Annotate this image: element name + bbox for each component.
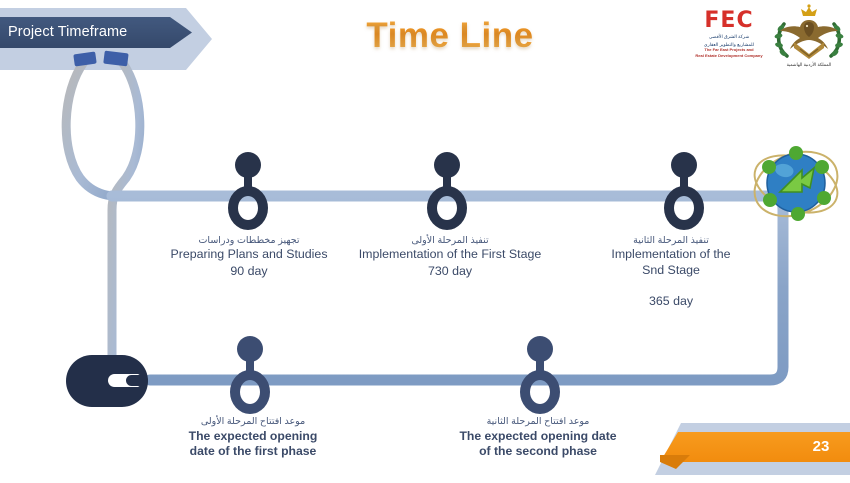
- milestone-label-1-duration: 90 day: [160, 263, 338, 279]
- milestone-label-2-english: Implementation of the First Stage: [352, 247, 548, 263]
- slide-canvas: Project Timeframe Time Line FEC شركة الش…: [0, 0, 850, 483]
- milestone-label-2: تنفيذ المرحلة الأولى Implementation of t…: [352, 234, 548, 279]
- milestone-label-5-english-line-1: The expected opening date: [447, 429, 629, 444]
- milestone-label-4-english-line-2: date of the first phase: [170, 444, 336, 459]
- milestone-label-5-arabic: موعد افتتاح المرحلة الثانية: [447, 415, 629, 429]
- page-number: 23: [806, 434, 836, 460]
- milestone-marker-2[interactable]: [423, 152, 471, 230]
- milestone-label-5: موعد افتتاح المرحلة الثانية The expected…: [447, 415, 629, 459]
- marker-ring: [427, 186, 467, 230]
- milestone-label-5-english-line-2: of the second phase: [447, 444, 629, 459]
- milestone-marker-4[interactable]: [226, 336, 274, 414]
- milestone-marker-5[interactable]: [516, 336, 564, 414]
- milestone-marker-3[interactable]: [660, 152, 708, 230]
- globe-arrow-icon: [750, 140, 842, 226]
- milestone-label-4-english-line-1: The expected opening: [170, 429, 336, 444]
- marker-ring: [230, 370, 270, 414]
- marker-ring: [664, 186, 704, 230]
- milestone-label-1: تجهيز مخططات ودراسات Preparing Plans and…: [160, 234, 338, 279]
- milestone-marker-1[interactable]: [224, 152, 272, 230]
- milestone-label-1-english: Preparing Plans and Studies: [160, 247, 338, 263]
- marker-ring: [228, 186, 268, 230]
- milestone-label-3: تنفيذ المرحلة الثانية Implementation of …: [590, 234, 752, 309]
- milestone-label-3-arabic: تنفيذ المرحلة الثانية: [590, 234, 752, 247]
- mouse-dot-shape: [126, 375, 148, 386]
- milestone-label-1-arabic: تجهيز مخططات ودراسات: [160, 234, 338, 247]
- milestone-label-3-english-line-2: Snd Stage: [590, 263, 752, 279]
- marker-ring: [520, 370, 560, 414]
- milestone-label-3-english-line-1: Implementation of the: [590, 247, 752, 263]
- milestone-label-4: موعد افتتاح المرحلة الأولى The expected …: [170, 415, 336, 459]
- milestone-label-3-duration: 365 day: [590, 293, 752, 309]
- milestone-label-4-arabic: موعد افتتاح المرحلة الأولى: [170, 415, 336, 429]
- milestone-label-2-arabic: تنفيذ المرحلة الأولى: [352, 234, 548, 247]
- milestone-label-2-duration: 730 day: [352, 263, 548, 279]
